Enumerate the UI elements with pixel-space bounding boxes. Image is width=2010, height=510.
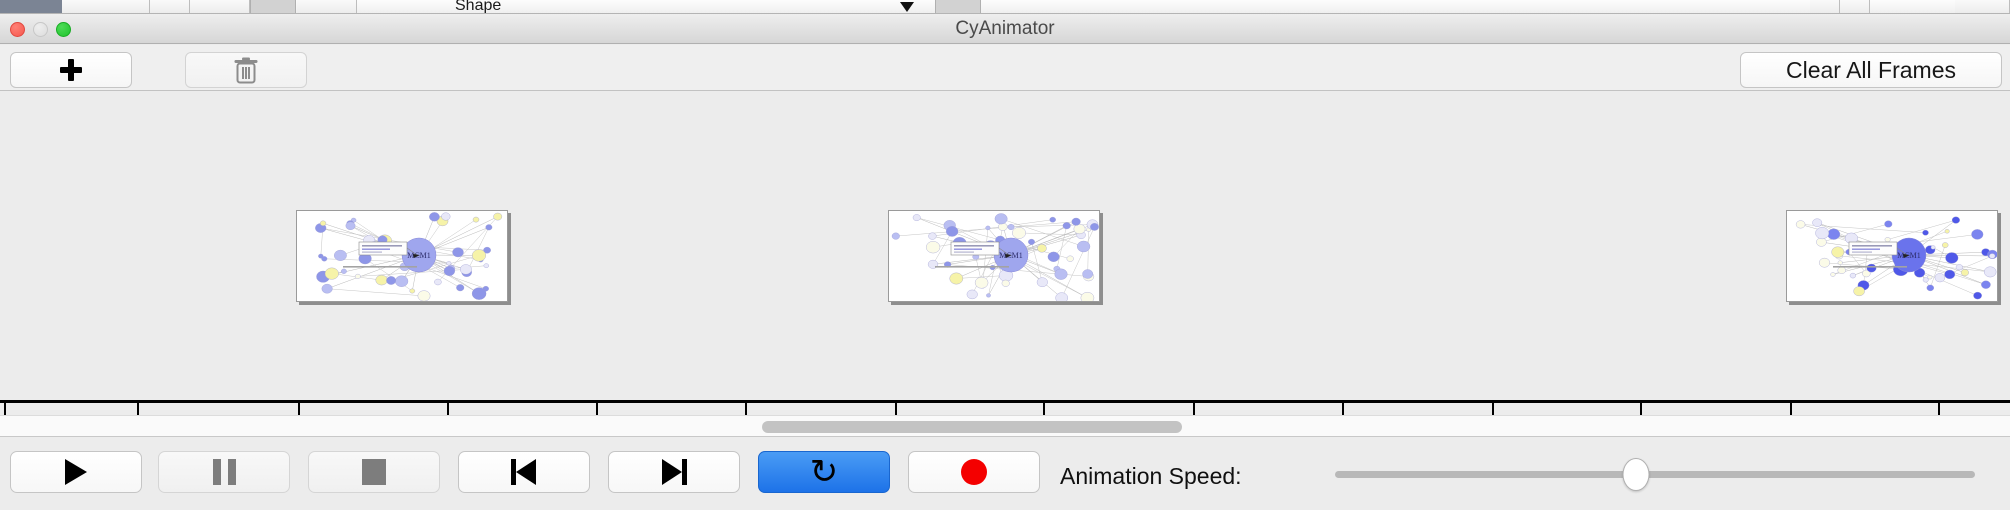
stop-button[interactable] bbox=[308, 451, 440, 493]
animation-speed-label: Animation Speed: bbox=[1060, 463, 1242, 490]
play-button[interactable] bbox=[10, 451, 142, 493]
background-tab bbox=[150, 0, 190, 14]
pause-icon bbox=[213, 459, 236, 485]
playback-toolbar: ↻ Animation Speed: bbox=[0, 438, 2010, 510]
clear-all-frames-button[interactable]: Clear All Frames bbox=[1740, 52, 2002, 88]
slider-thumb[interactable] bbox=[1622, 458, 1649, 491]
trash-icon bbox=[233, 56, 259, 84]
background-tab-selected bbox=[250, 0, 296, 14]
plus-icon bbox=[60, 59, 82, 81]
tick-minor bbox=[447, 403, 449, 415]
tick-minor bbox=[745, 403, 747, 415]
background-tab bbox=[1955, 0, 2010, 14]
delete-frame-button[interactable] bbox=[185, 52, 307, 88]
skip-next-icon bbox=[661, 459, 687, 485]
titlebar: CyAnimator bbox=[0, 14, 2010, 44]
timeline-scrollbar[interactable] bbox=[0, 415, 2010, 437]
background-window-sidebar bbox=[0, 0, 62, 14]
skip-to-start-button[interactable] bbox=[458, 451, 590, 493]
slider-track bbox=[1335, 471, 1975, 478]
window-title: CyAnimator bbox=[0, 14, 2010, 44]
scrollbar-thumb[interactable] bbox=[762, 421, 1182, 433]
background-window-strip: Shape bbox=[0, 0, 2010, 14]
tick-major bbox=[1193, 403, 1195, 415]
background-tab bbox=[1840, 0, 1870, 14]
tick-minor bbox=[1938, 403, 1940, 415]
background-window-text: Shape bbox=[455, 0, 501, 14]
timeline-frame[interactable]: MCM1 bbox=[888, 210, 1100, 302]
timeline-axis bbox=[0, 400, 2010, 403]
background-tab bbox=[297, 0, 357, 14]
background-tab-selected bbox=[935, 0, 981, 14]
add-frame-button[interactable] bbox=[10, 52, 132, 88]
background-tab bbox=[62, 0, 150, 14]
timeline-panel[interactable]: MCM1 MCM1 MCM1 bbox=[0, 92, 2010, 415]
background-tab bbox=[1810, 0, 1840, 14]
tick-minor bbox=[1043, 403, 1045, 415]
record-button[interactable] bbox=[908, 451, 1040, 493]
tick-minor bbox=[1342, 403, 1344, 415]
tick-major bbox=[298, 403, 300, 415]
tick-major bbox=[895, 403, 897, 415]
stop-icon bbox=[362, 459, 386, 485]
background-tab bbox=[190, 0, 250, 14]
tick-major bbox=[596, 403, 598, 415]
cyanimator-window: Shape CyAnimator Clea bbox=[0, 0, 2010, 510]
timeline-frame[interactable]: MCM1 bbox=[1786, 210, 1998, 302]
tick-minor bbox=[137, 403, 139, 415]
loop-button[interactable]: ↻ bbox=[758, 451, 890, 493]
skip-to-end-button[interactable] bbox=[608, 451, 740, 493]
pause-button[interactable] bbox=[158, 451, 290, 493]
loop-icon: ↻ bbox=[810, 455, 839, 489]
record-icon bbox=[961, 459, 987, 485]
skip-previous-icon bbox=[511, 459, 537, 485]
tick-major bbox=[4, 403, 6, 415]
tick-minor bbox=[1640, 403, 1642, 415]
animation-speed-slider[interactable] bbox=[1335, 471, 1975, 479]
toolbar: Clear All Frames bbox=[0, 45, 2010, 91]
play-icon bbox=[65, 459, 87, 485]
timeline-frame[interactable]: MCM1 bbox=[296, 210, 508, 302]
tick-major bbox=[1492, 403, 1494, 415]
background-caret-icon bbox=[900, 2, 914, 12]
tick-major bbox=[1790, 403, 1792, 415]
